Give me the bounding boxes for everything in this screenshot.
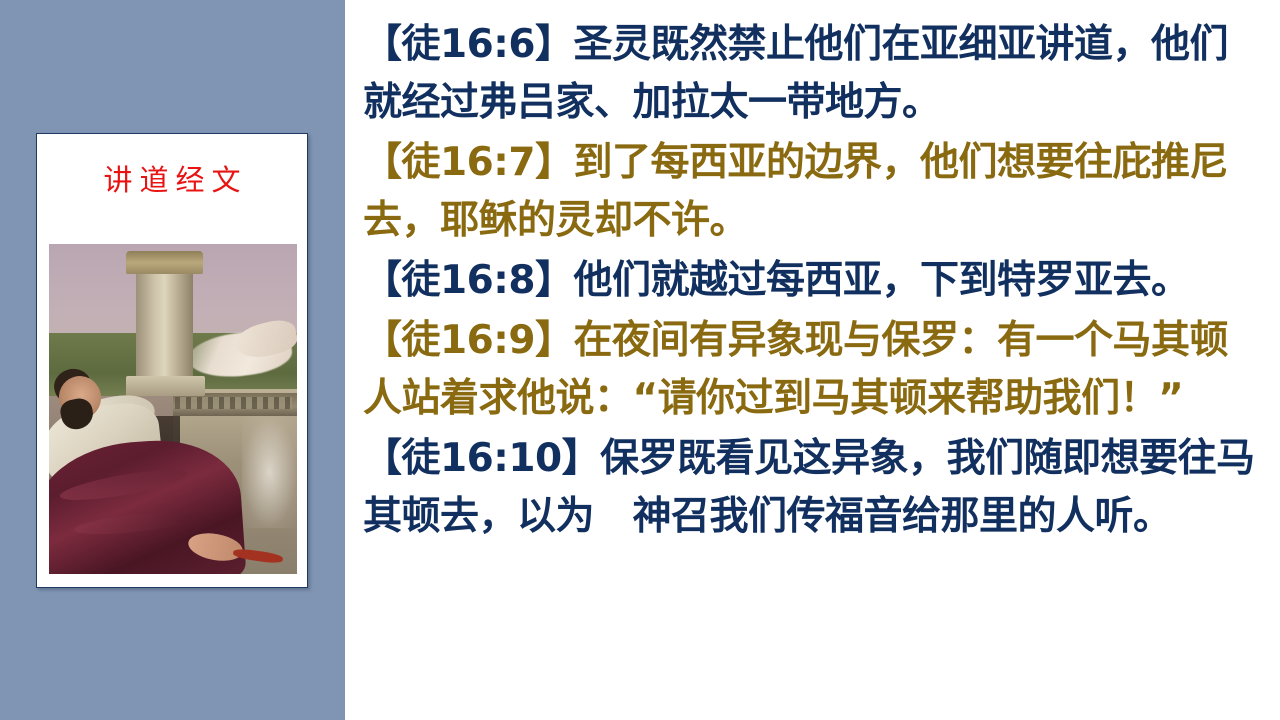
painting-column-capital <box>126 251 203 274</box>
scripture-text-block: 【徒16:6】圣灵既然禁止他们在亚细亚讲道，他们就经过弗吕家、加拉太一带地方。 … <box>363 16 1263 706</box>
painting-mist <box>242 416 297 528</box>
painting-column-base <box>126 376 205 396</box>
painting-wall-frieze <box>175 397 292 409</box>
verse-acts-16-8: 【徒16:8】他们就越过每西亚，下到特罗亚去。 <box>363 252 1263 310</box>
presentation-slide: 讲道经文 【徒 <box>0 0 1280 720</box>
verse-acts-16-10: 【徒16:10】保罗既看见这异象，我们随即想要往马其顿去，以为 神召我们传福音给… <box>363 430 1263 546</box>
card-title: 讲道经文 <box>37 166 307 198</box>
verse-acts-16-6: 【徒16:6】圣灵既然禁止他们在亚细亚讲道，他们就经过弗吕家、加拉太一带地方。 <box>363 16 1263 132</box>
verse-acts-16-7: 【徒16:7】到了每西亚的边界，他们想要往庇推尼去，耶稣的灵却不许。 <box>363 134 1263 250</box>
scripture-title-card: 讲道经文 <box>36 133 308 588</box>
paul-vision-painting <box>49 244 297 574</box>
painting-column-shaft <box>136 264 193 389</box>
verse-acts-16-9: 【徒16:9】在夜间有异象现与保罗：有一个马其顿人站着求他说：“请你过到马其顿来… <box>363 312 1263 428</box>
